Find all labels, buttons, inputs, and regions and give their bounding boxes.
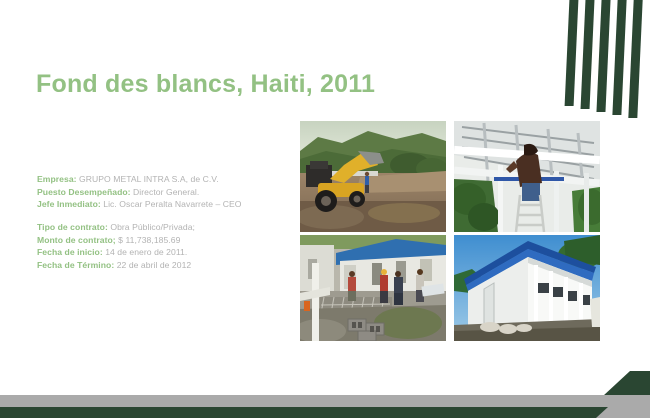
decorative-bar [612, 0, 626, 115]
photo-roof-installation [454, 121, 600, 232]
detail-value: GRUPO METAL INTRA S.A, de C.V. [79, 174, 219, 184]
detail-label: Tipo de contrato: [37, 222, 108, 232]
detail-label: Jefe Inmediato: [37, 199, 101, 209]
detail-line: Fecha de inicio: 14 de enero de 2011. [37, 246, 195, 259]
decorative-bar [565, 0, 579, 106]
detail-label: Empresa: [37, 174, 77, 184]
photo-excavation-site [300, 121, 446, 232]
slide-title: Fond des blancs, Haiti, 2011 [36, 70, 375, 99]
decorative-band-gray [0, 395, 650, 407]
decorative-bar [581, 0, 595, 109]
detail-value: 14 de enero de 2011. [105, 247, 187, 257]
slide-canvas: Fond des blancs, Haiti, 2011 Empresa: GR… [0, 0, 650, 418]
detail-line: Monto de contrato; $ 11,738,185.69 [37, 234, 195, 247]
photo-finished-building [454, 235, 600, 341]
detail-value: Director General. [133, 187, 199, 197]
photo-paving-crew [300, 235, 446, 341]
detail-value: $ 11,738,185.69 [118, 235, 180, 245]
decorative-bar-group [560, 0, 650, 130]
detail-label: Puesto Desempeñado: [37, 187, 131, 197]
detail-line: Jefe Inmediato: Lic. Oscar Peralta Navar… [37, 198, 242, 211]
detail-line: Fecha de Término: 22 de abril de 2012 [37, 259, 195, 272]
detail-line: Puesto Desempeñado: Director General. [37, 186, 242, 199]
detail-value: Lic. Oscar Peralta Navarrete – CEO [103, 199, 241, 209]
details-group-contract: Tipo de contrato: Obra Público/Privada; … [37, 221, 195, 271]
details-group-company: Empresa: GRUPO METAL INTRA S.A, de C.V. … [37, 173, 242, 211]
photo-collage [300, 121, 600, 341]
decorative-band-green [0, 407, 650, 418]
decorative-bar [628, 0, 642, 118]
decorative-corner-green [565, 371, 650, 396]
detail-label: Monto de contrato; [37, 235, 116, 245]
detail-line: Tipo de contrato: Obra Público/Privada; [37, 221, 195, 234]
detail-line: Empresa: GRUPO METAL INTRA S.A, de C.V. [37, 173, 242, 186]
decorative-bar [596, 0, 610, 112]
detail-value: 22 de abril de 2012 [117, 260, 192, 270]
detail-label: Fecha de Término: [37, 260, 114, 270]
detail-label: Fecha de inicio: [37, 247, 103, 257]
detail-value: Obra Público/Privada; [110, 222, 195, 232]
